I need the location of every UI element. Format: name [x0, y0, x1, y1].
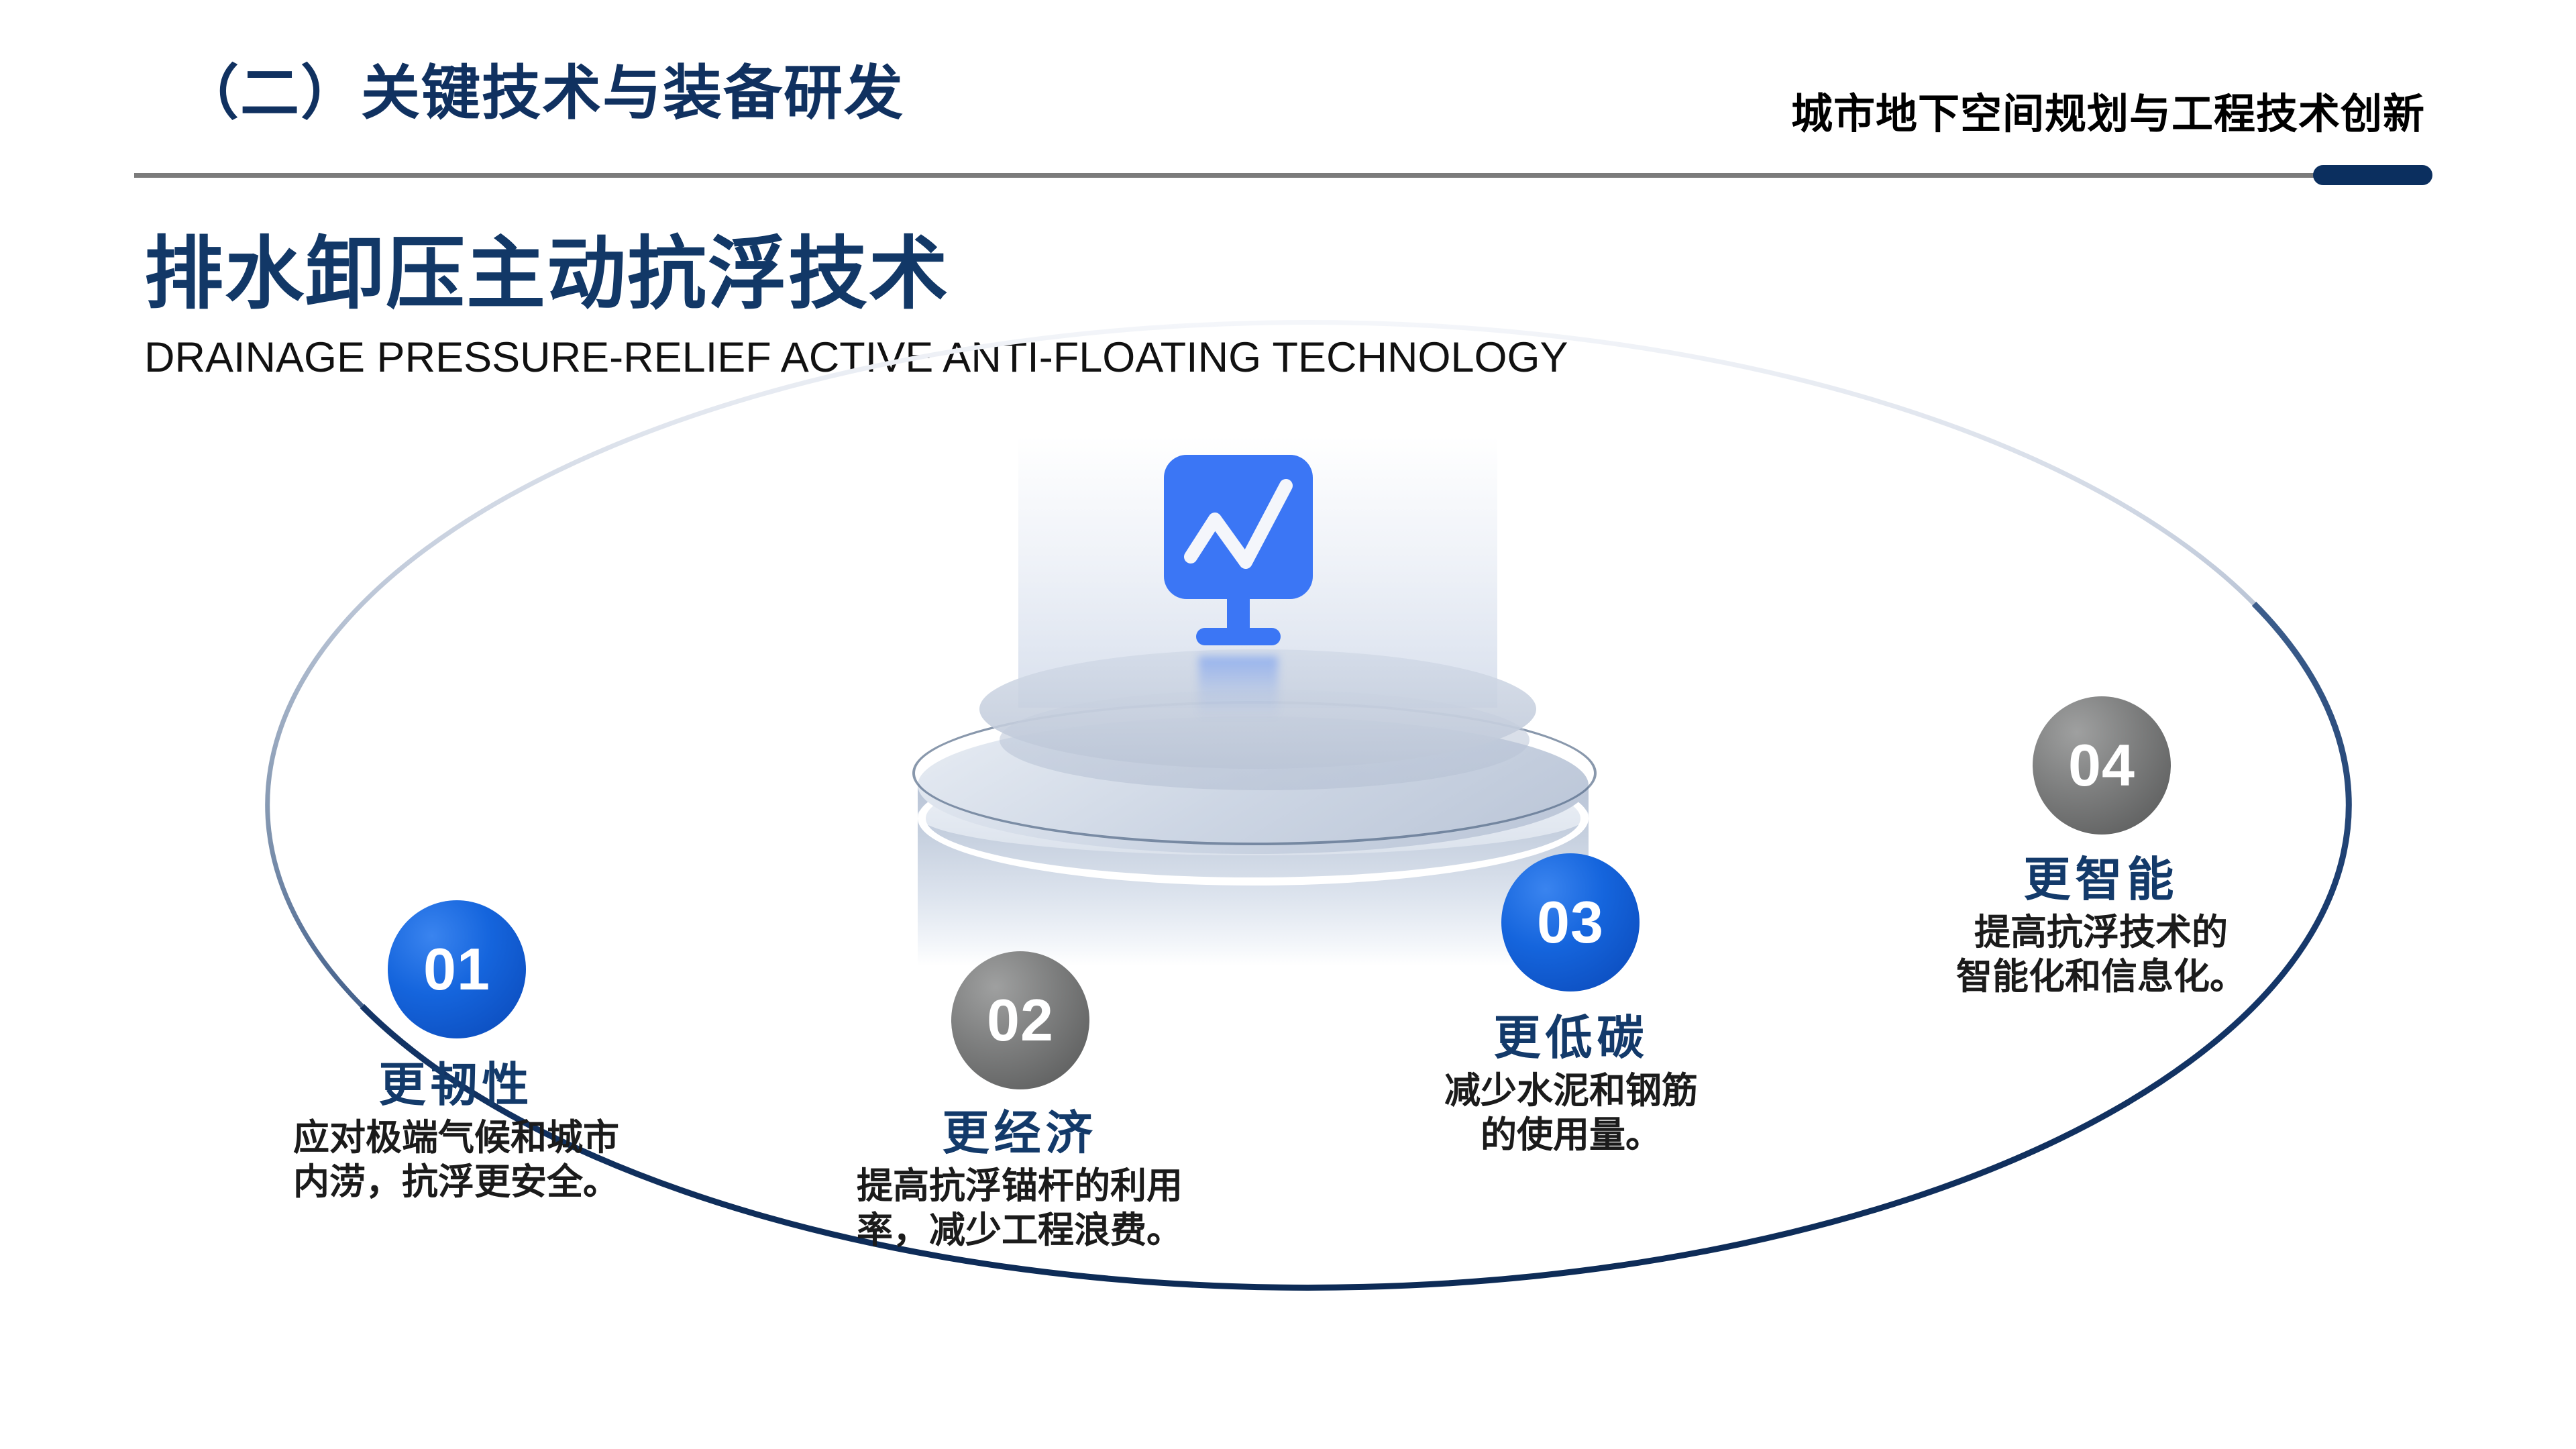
feature-text-01: 更韧性 应对极端气候和城市 内涝，抗浮更安全。 [201, 1059, 711, 1205]
deck-title: 城市地下空间规划与工程技术创新 [1791, 94, 2425, 136]
feature-text-03: 更低碳 减少水泥和钢筋 的使用量。 [1316, 1012, 1826, 1158]
feature-desc-01-line1: 应对极端气候和城市 [201, 1116, 711, 1161]
feature-text-02: 更经济 提高抗浮锚杆的利用 率，减少工程浪费。 [765, 1107, 1275, 1253]
badge-number-03: 03 [1537, 893, 1604, 952]
monitor-screen [1164, 455, 1313, 599]
feature-title-04: 更智能 [1846, 853, 2356, 906]
header-accent-bar [2313, 165, 2432, 185]
badge-circle-04[interactable]: 04 [2033, 696, 2171, 835]
feature-desc-03-line1: 减少水泥和钢筋 [1316, 1069, 1826, 1114]
feature-title-03: 更低碳 [1316, 1012, 1826, 1064]
feature-desc-02-line2: 率，减少工程浪费。 [765, 1209, 1275, 1253]
feature-desc-04-line1: 提高抗浮技术的 [1846, 911, 2356, 955]
feature-title-02: 更经济 [765, 1107, 1275, 1159]
page-title: 排水卸压主动抗浮技术 [144, 228, 1568, 321]
section-title: （二）关键技术与装备研发 [180, 64, 904, 123]
badge-circle-01[interactable]: 01 [388, 900, 526, 1038]
badge-number-04: 04 [2068, 736, 2135, 795]
slide-header: （二）关键技术与装备研发 城市地下空间规划与工程技术创新 [0, 0, 2576, 201]
page-subtitle: DRAINAGE PRESSURE-RELIEF ACTIVE ANTI-FLO… [144, 335, 1568, 381]
badge-circle-03[interactable]: 03 [1501, 853, 1640, 991]
feature-desc-02-line1: 提高抗浮锚杆的利用 [765, 1165, 1275, 1209]
feature-desc-03-line2: 的使用量。 [1316, 1114, 1826, 1158]
title-block: 排水卸压主动抗浮技术 DRAINAGE PRESSURE-RELIEF ACTI… [144, 228, 1568, 382]
feature-text-04: 更智能 提高抗浮技术的 智能化和信息化。 [1846, 853, 2356, 1000]
badge-circle-02[interactable]: 02 [951, 951, 1089, 1089]
feature-desc-01-line2: 内涝，抗浮更安全。 [201, 1161, 711, 1205]
monitor-reflection [1199, 656, 1278, 720]
badge-number-02: 02 [987, 991, 1054, 1050]
line-chart-monitor-icon [1164, 455, 1338, 656]
line-chart-glyph [1164, 455, 1313, 599]
feature-title-01: 更韧性 [201, 1059, 711, 1111]
badge-number-01: 01 [423, 940, 490, 999]
header-divider-line [134, 173, 2328, 178]
feature-desc-04-line2: 智能化和信息化。 [1846, 955, 2356, 1000]
monitor-base [1196, 628, 1281, 645]
